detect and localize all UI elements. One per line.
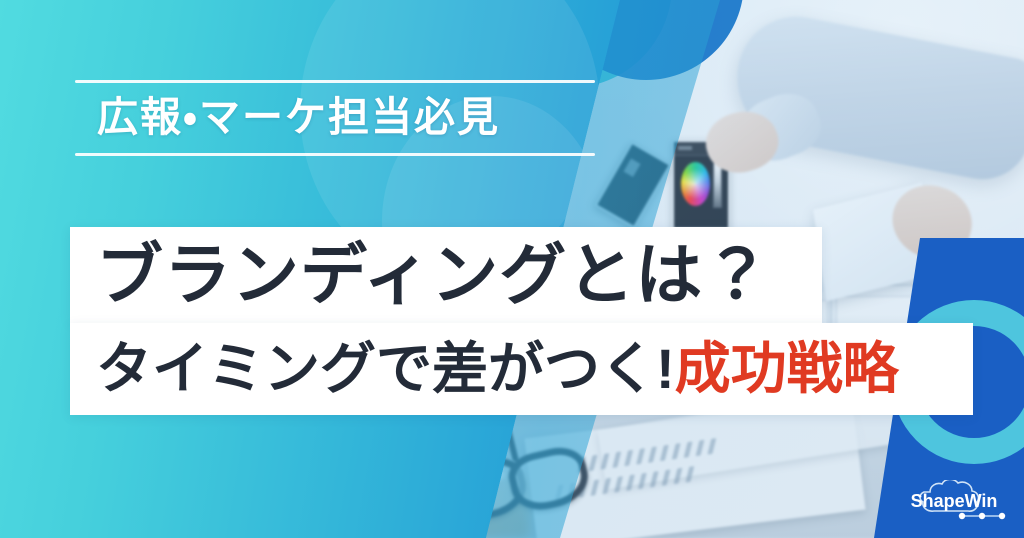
page-subtitle: タイミングで差がつく!成功戦略 xyxy=(70,341,899,397)
page-title: ブランディングとは？ xyxy=(70,242,771,309)
shapewin-logo[interactable]: ShapeWin xyxy=(900,480,1008,526)
kicker-block: 広報・マーケ担当必見 xyxy=(75,80,595,156)
blog-banner: 広報・マーケ担当必見 ブランディングとは？ タイミングで差がつく!成功戦略 Sh… xyxy=(0,0,1024,538)
logo-wordmark: ShapeWin xyxy=(911,491,998,511)
title-plate-secondary: タイミングで差がつく!成功戦略 xyxy=(70,323,973,415)
connector-node-icon xyxy=(959,513,965,519)
connector-node-icon xyxy=(979,513,985,519)
kicker-text: 広報・マーケ担当必見 xyxy=(75,83,595,153)
subtitle-plain-text: タイミングで差がつく! xyxy=(96,337,675,400)
connector-node-icon xyxy=(999,513,1005,519)
subtitle-accent-text: 成功戦略 xyxy=(675,337,899,400)
kicker-rule-bottom xyxy=(75,153,595,156)
title-plate-primary: ブランディングとは？ xyxy=(70,227,822,323)
